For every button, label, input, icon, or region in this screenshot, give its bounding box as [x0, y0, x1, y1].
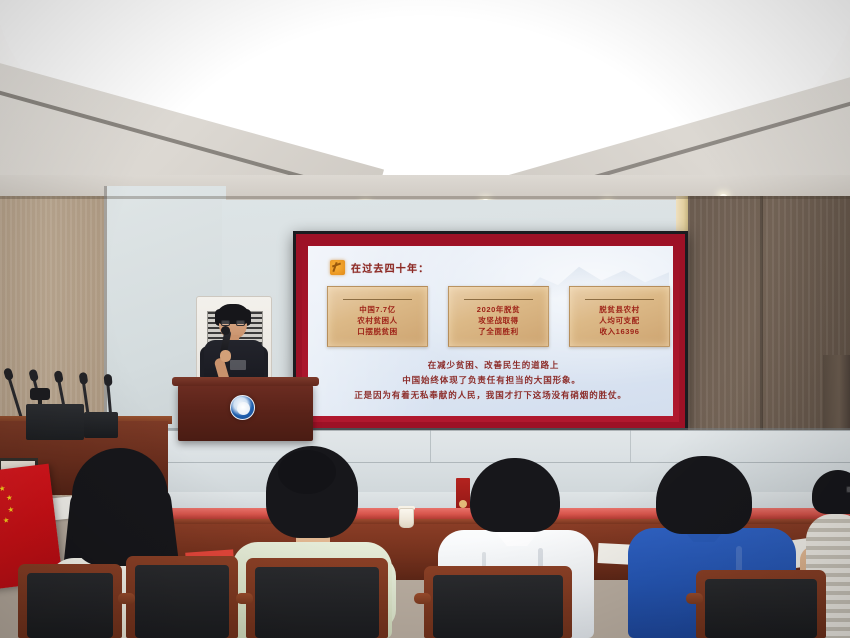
slide-card: 脱贫县农村 人均可支配 收入16396 — [569, 286, 670, 347]
hair — [812, 470, 850, 514]
camera-icon — [30, 388, 50, 400]
chair[interactable] — [696, 570, 826, 638]
card-line: 人均可支配 — [599, 316, 640, 325]
hair — [72, 448, 168, 566]
chair[interactable] — [126, 556, 238, 638]
card-line: 攻坚战取得 — [478, 316, 519, 325]
flag-star-icon — [6, 494, 13, 501]
chair[interactable] — [18, 564, 122, 638]
paper-cup — [399, 508, 414, 528]
floor-tile-line — [430, 430, 431, 462]
slide-body-line: 中国始终体现了负责任有担当的大国形象。 — [318, 373, 663, 388]
chair-armrest — [686, 593, 703, 604]
card-line: 了全面胜利 — [478, 327, 519, 336]
card-line: 农村贫困人 — [357, 316, 398, 325]
podium-top — [172, 377, 319, 386]
chair-backrest — [433, 575, 563, 638]
hair — [656, 456, 752, 534]
flag-star-icon — [7, 506, 14, 513]
card-line: 收入16396 — [599, 327, 639, 336]
ceiling-wall-seam — [0, 196, 850, 199]
card-rule — [343, 299, 412, 300]
equipment-box — [26, 404, 84, 440]
slide-card-row: 中国7.7亿 农村贫困人 口摆脱贫困 2020年脱贫 攻坚战取得 了全面胜利 脱… — [327, 286, 670, 347]
chair[interactable] — [424, 566, 572, 638]
hair-bun — [278, 450, 336, 494]
slide-body-line: 在减少贫困、改善民生的道路上 — [318, 358, 663, 373]
chair[interactable] — [246, 558, 388, 638]
slide-card: 2020年脱贫 攻坚战取得 了全面胜利 — [448, 286, 549, 347]
flag-star-icon — [0, 485, 6, 492]
chair-backrest — [705, 579, 817, 638]
podium-emblem-icon — [230, 395, 255, 420]
chair-armrest — [414, 593, 431, 604]
card-line: 中国7.7亿 — [359, 305, 396, 314]
presentation-slide: 在过去四十年： 中国7.7亿 农村贫困人 口摆脱贫困 2020年脱贫 攻坚战取得… — [308, 246, 673, 416]
slide-header: 在过去四十年： — [330, 260, 429, 275]
card-rule — [585, 299, 654, 300]
speaking-podium — [178, 383, 313, 441]
chair-armrest — [236, 593, 253, 604]
card-line: 口摆脱贫困 — [357, 327, 398, 336]
glasses-icon — [846, 486, 850, 493]
card-line: 脱贫县农村 — [599, 305, 640, 314]
flag-star-icon — [3, 517, 10, 524]
presenter-hand — [220, 350, 231, 362]
microphone-head-icon — [221, 326, 230, 335]
party-emblem-icon — [330, 260, 345, 275]
slide-body-text: 在减少贫困、改善民生的道路上 中国始终体现了负责任有担当的大国形象。 正是因为有… — [318, 358, 663, 403]
card-rule — [464, 299, 533, 300]
shirt-print — [230, 360, 246, 370]
projection-screen[interactable]: 在过去四十年： 中国7.7亿 农村贫困人 口摆脱贫困 2020年脱贫 攻坚战取得… — [293, 231, 688, 431]
chair-armrest — [118, 593, 135, 604]
slide-title: 在过去四十年： — [351, 260, 429, 275]
chair-backrest — [27, 573, 113, 638]
conference-photo-scene: 在过去四十年： 中国7.7亿 农村贫困人 口摆脱贫困 2020年脱贫 攻坚战取得… — [0, 0, 850, 638]
equipment-box — [84, 412, 118, 438]
screen-frame: 在过去四十年： 中国7.7亿 农村贫困人 口摆脱贫困 2020年脱贫 攻坚战取得… — [296, 234, 685, 428]
chair-backrest — [135, 565, 229, 638]
hair — [470, 458, 560, 532]
card-line: 2020年脱贫 — [477, 305, 520, 314]
chair-backrest — [255, 567, 379, 638]
slide-body-line: 正是因为有着无私奉献的人民，我国才打下这场没有硝烟的胜仗。 — [318, 388, 663, 403]
slide-card: 中国7.7亿 农村贫困人 口摆脱贫困 — [327, 286, 428, 347]
